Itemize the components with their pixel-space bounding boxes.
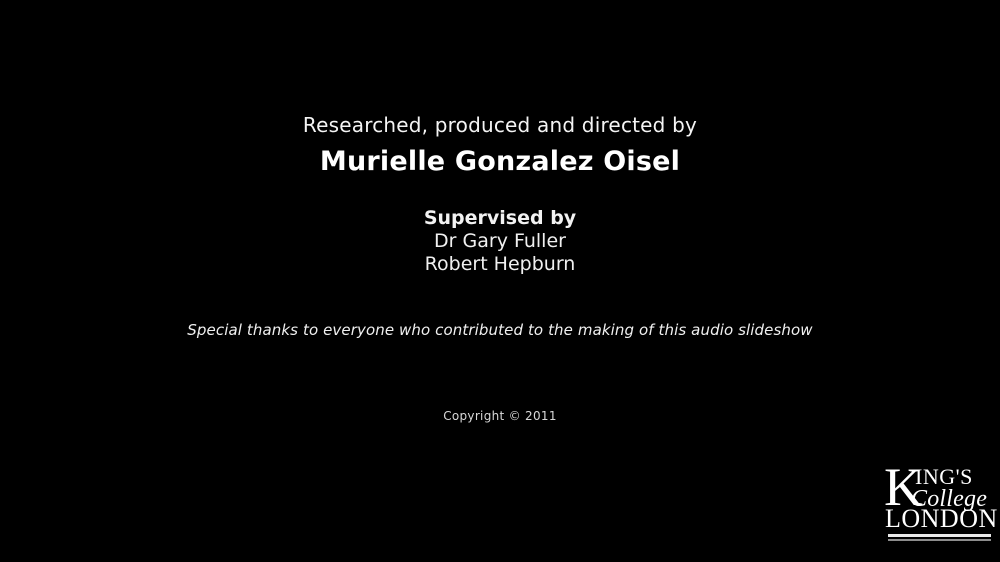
- director-name: Murielle Gonzalez Oisel: [0, 146, 1000, 177]
- supervised-by-label: Supervised by: [0, 207, 1000, 230]
- logo-word-ings: ING'S: [915, 466, 973, 488]
- copyright-text: Copyright © 2011: [0, 409, 1000, 423]
- credits-slide: Researched, produced and directed by Mur…: [0, 0, 1000, 562]
- supervisors-group: Supervised by Dr Gary Fuller Robert Hepb…: [0, 207, 1000, 276]
- kings-college-london-logo: K ING'S College LONDON: [884, 462, 992, 548]
- logo-word-london: LONDON: [885, 506, 998, 532]
- supervisor-name-1: Dr Gary Fuller: [0, 230, 1000, 253]
- supervisor-name-2: Robert Hepburn: [0, 253, 1000, 276]
- special-thanks-text: Special thanks to everyone who contribut…: [0, 321, 1000, 339]
- directed-by-label: Researched, produced and directed by: [0, 113, 1000, 137]
- logo-rule-lower: [888, 539, 991, 541]
- logo-rule-upper: [888, 534, 991, 537]
